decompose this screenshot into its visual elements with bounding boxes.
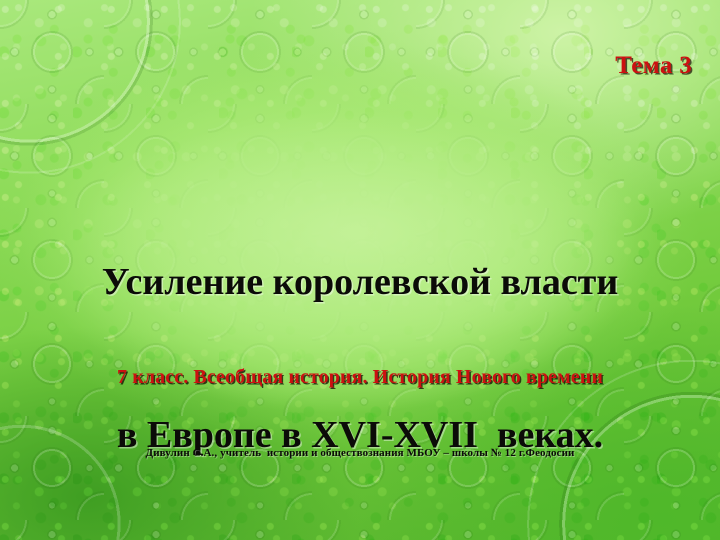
course-subtitle: 7 класс. Всеобщая история. История Новог… — [0, 366, 720, 389]
topic-number-label: Тема 3 — [615, 52, 692, 80]
author-credit: Дивулин С.А., учитель истории и общество… — [0, 447, 720, 459]
slide-title-line-1: Усиление королевской власти — [0, 257, 720, 308]
presentation-slide: Тема 3 Усиление королевской власти в Евр… — [0, 0, 720, 540]
slide-title: Усиление королевской власти в Европе в X… — [0, 155, 720, 540]
